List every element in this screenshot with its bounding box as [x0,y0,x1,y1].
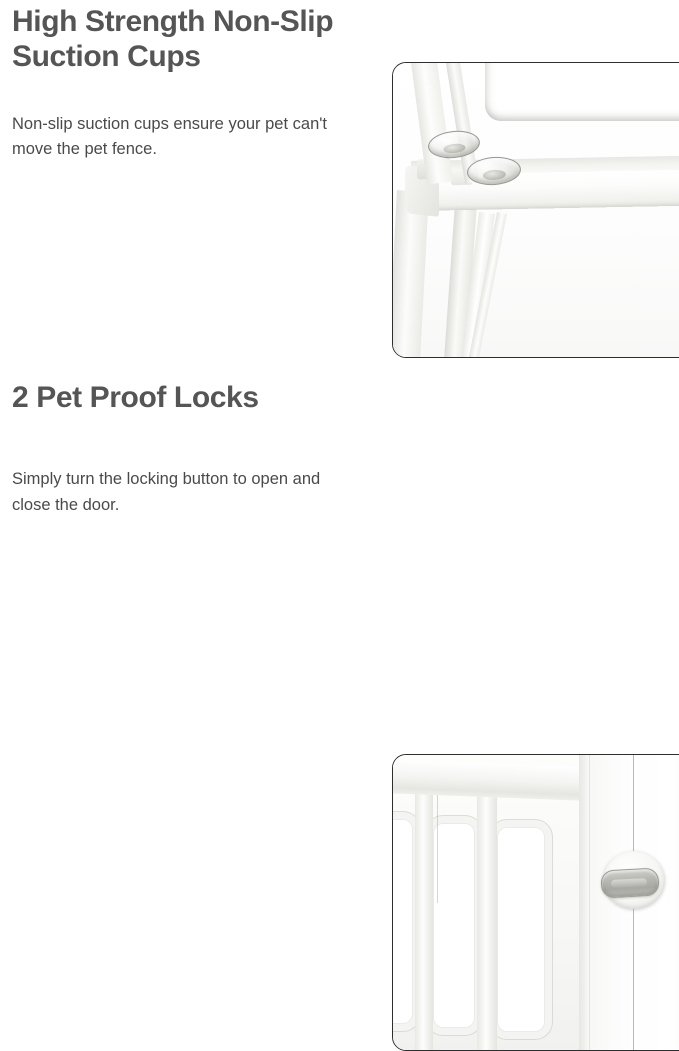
fence-opening-1 [393,819,413,1024]
fence-mullion-2 [477,795,497,1050]
fence-mullion-seam [437,793,438,903]
product-photo-pet-proof-locks [392,754,679,1051]
fence-panel-opening [485,63,679,121]
fence-door-edge [579,755,589,1050]
suction-cup-stem-2 [483,169,507,180]
feature-text-column-pet-proof-locks: 2 Pet Proof Locks Simply turn the lockin… [12,358,342,519]
photo-stage-pet-proof-locks [393,755,679,1050]
lock-knob-highlight [611,878,647,888]
lock-knob-icon [600,868,659,899]
infographic-page: High Strength Non-Slip Suction Cups Non-… [0,0,679,683]
fence-opening-3 [497,827,545,1032]
photo-stage-suction-cups [393,63,679,357]
feature-body-pet-proof-locks: Simply turn the locking button to open a… [12,415,330,518]
feature-heading-pet-proof-locks: 2 Pet Proof Locks [12,358,412,415]
feature-heading-suction-cups: High Strength Non-Slip Suction Cups [12,0,412,75]
fence-mullion-1 [415,791,433,1050]
product-photo-suction-cups [392,62,679,358]
feature-text-column-suction-cups: High Strength Non-Slip Suction Cups Non-… [12,0,342,163]
feature-block-suction-cups: High Strength Non-Slip Suction Cups Non-… [0,0,679,355]
fence-door-seam-3 [589,755,590,1050]
fence-opening-2 [433,823,475,1028]
suction-cup-stem-1 [443,142,466,154]
feature-body-suction-cups: Non-slip suction cups ensure your pet ca… [12,75,330,163]
feature-block-pet-proof-locks: 2 Pet Proof Locks Simply turn the lockin… [0,358,679,683]
